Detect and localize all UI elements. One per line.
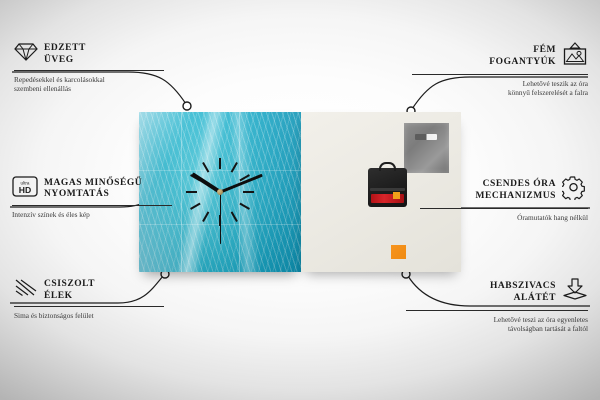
feature-desc: Lehetővé teszik az óra xyxy=(412,79,588,89)
divider xyxy=(406,310,588,311)
feature-header: HABSZIVACS ALÁTÉT xyxy=(406,278,588,307)
feature-desc: könnyű felszerelését a falra xyxy=(412,88,588,98)
feature-header: FÉM FOGANTYÚK xyxy=(412,42,588,71)
infographic-canvas: EDZETT ÜVEG Repedésekkel és karcolásokka… xyxy=(0,0,600,400)
feature-title: CSENDES ÓRA MECHANIZMUS xyxy=(476,179,556,202)
clock-center-cap xyxy=(217,189,223,195)
divider xyxy=(14,70,164,71)
gear-icon xyxy=(562,176,588,205)
feature-desc: szembeni ellenállás xyxy=(14,84,164,94)
feature-desc: Óramutatók hang nélkül xyxy=(420,213,588,223)
connector-dot-edzett xyxy=(183,102,191,110)
hanger-slot xyxy=(415,134,437,140)
divider xyxy=(12,205,172,206)
feature-header: CSENDES ÓRA MECHANIZMUS xyxy=(420,176,588,205)
divider xyxy=(420,208,588,209)
divider xyxy=(412,74,588,75)
feature-habszivacs-alatet: HABSZIVACS ALÁTÉT Lehetővé teszi az óra … xyxy=(406,278,588,334)
mechanism-hook xyxy=(379,162,396,171)
feature-header: CSISZOLT ÉLEK xyxy=(14,278,164,303)
feature-magas-minosegu-nyomtatas: ultra HD MAGAS MINŐSÉGŰ NYOMTATÁS Intenz… xyxy=(12,176,172,219)
divider xyxy=(14,306,164,307)
quartz-mechanism xyxy=(368,168,407,207)
feature-csiszolt-elek: CSISZOLT ÉLEK Sima és biztonságos felüle… xyxy=(14,278,164,320)
feature-title: FÉM FOGANTYÚK xyxy=(489,45,556,68)
diamond-icon xyxy=(14,42,38,67)
feature-fem-fogantyuk: FÉM FOGANTYÚK Lehetővé teszik az óra kön… xyxy=(412,42,588,98)
feature-title: EDZETT ÜVEG xyxy=(44,43,86,66)
feature-desc: Intenzív színek és éles kép xyxy=(12,210,172,220)
foam-pad xyxy=(391,245,406,259)
picture-hanger-icon xyxy=(562,42,588,71)
feature-desc: Sima és biztonságos felület xyxy=(14,311,164,321)
feature-title: CSISZOLT ÉLEK xyxy=(44,279,95,302)
mechanism-lip xyxy=(370,188,405,191)
clock-second-hand xyxy=(220,192,221,244)
battery xyxy=(371,194,404,203)
glass-seam xyxy=(181,112,182,272)
feature-title: HABSZIVACS ALÁTÉT xyxy=(490,281,556,304)
polished-edge-icon xyxy=(14,278,38,303)
feature-header: EDZETT ÜVEG xyxy=(14,42,164,67)
product-photo xyxy=(139,112,461,272)
svg-text:HD: HD xyxy=(19,185,31,195)
feature-desc: Repedésekkel és karcolásokkal xyxy=(14,75,164,85)
feature-csendes-ora-mechanizmus: CSENDES ÓRA MECHANIZMUS Óramutatók hang … xyxy=(420,176,588,222)
feature-desc: távolságban tartását a faltól xyxy=(406,324,588,334)
feature-edzett-uveg: EDZETT ÜVEG Repedésekkel és karcolásokka… xyxy=(14,42,164,94)
metal-hanger-plate xyxy=(404,123,449,173)
feature-header: ultra HD MAGAS MINŐSÉGŰ NYOMTATÁS xyxy=(12,176,172,202)
foam-pad-icon xyxy=(562,278,588,307)
feature-title: MAGAS MINŐSÉGŰ NYOMTATÁS xyxy=(44,178,142,201)
ultra-hd-icon: ultra HD xyxy=(12,176,38,202)
feature-desc: Lehetővé teszi az óra egyenletes xyxy=(406,315,588,325)
